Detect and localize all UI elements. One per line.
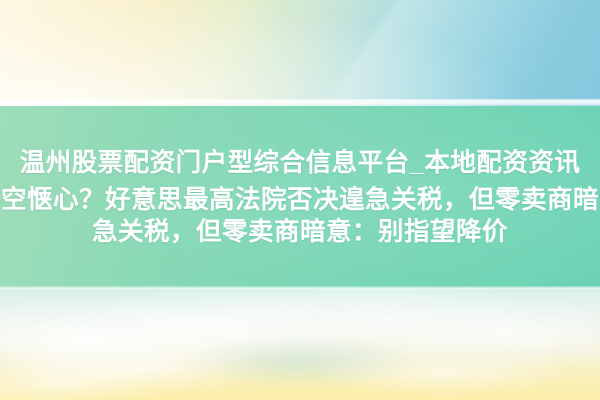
headline-line-1: 空惬心？好意思最高法院否决遑急关税，但零卖商暗 bbox=[1, 185, 599, 215]
site-title: 温州股票配资门户型综合信息平台_本地配资资讯 bbox=[20, 148, 581, 178]
top-divider-line bbox=[0, 99, 600, 106]
cloud-layer-lower bbox=[0, 289, 600, 400]
headline-line-2: 急关税，但零卖商暗意：别指望降价 bbox=[92, 217, 508, 247]
banner-image: 温州股票配资门户型综合信息平台_本地配资资讯 空惬心？好意思最高法院否决遑急关税… bbox=[0, 0, 600, 400]
top-sky-diagonal-streak bbox=[0, 0, 600, 106]
banner-text-block: 温州股票配资门户型综合信息平台_本地配资资讯 空惬心？好意思最高法院否决遑急关税… bbox=[0, 106, 600, 289]
